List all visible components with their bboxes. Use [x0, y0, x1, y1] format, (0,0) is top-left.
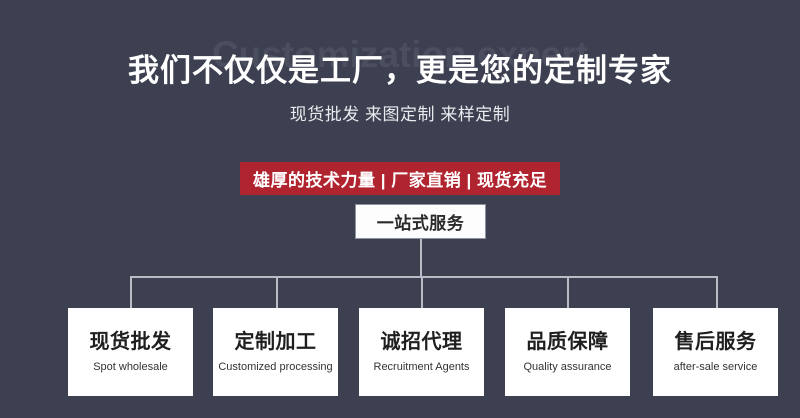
tree-root-label: 一站式服务	[377, 209, 465, 234]
page-title: 我们不仅仅是工厂，更是您的定制专家	[0, 52, 800, 89]
connector-branch-3	[421, 277, 423, 309]
tree-leaf-node: 定制加工 Customized processing	[213, 308, 338, 396]
highlight-banner-text: 雄厚的技术力量 | 厂家直销 | 现货充足	[253, 166, 547, 191]
connector-branch-5	[716, 277, 718, 309]
tree-leaf-label-cn: 诚招代理	[381, 330, 463, 354]
promo-banner: Customization expert 我们不仅仅是工厂，更是您的定制专家 现…	[0, 0, 800, 418]
tree-leaf-label-en: after-sale service	[674, 361, 758, 374]
tree-root-node: 一站式服务	[355, 204, 486, 239]
connector-trunk-vertical	[420, 239, 422, 277]
connector-branch-2	[276, 277, 278, 309]
tree-leaf-label-cn: 售后服务	[675, 330, 757, 354]
connector-branch-4	[567, 277, 569, 309]
tree-leaf-label-cn: 品质保障	[527, 330, 609, 354]
tree-leaf-node: 现货批发 Spot wholesale	[68, 308, 193, 396]
tree-leaf-label-en: Recruitment Agents	[374, 361, 470, 374]
page-subtitle: 现货批发 来图定制 来样定制	[0, 105, 800, 125]
tree-leaf-node: 诚招代理 Recruitment Agents	[359, 308, 484, 396]
tree-leaf-node: 品质保障 Quality assurance	[505, 308, 630, 396]
tree-leaf-label-en: Quality assurance	[523, 361, 611, 374]
tree-leaf-label-cn: 现货批发	[90, 330, 172, 354]
tree-leaf-node: 售后服务 after-sale service	[653, 308, 778, 396]
connector-branch-1	[130, 277, 132, 309]
highlight-banner: 雄厚的技术力量 | 厂家直销 | 现货充足	[240, 162, 560, 195]
connector-bus-horizontal	[130, 276, 718, 278]
tree-leaf-label-cn: 定制加工	[235, 330, 317, 354]
tree-leaf-label-en: Spot wholesale	[93, 361, 168, 374]
tree-leaf-label-en: Customized processing	[218, 361, 332, 374]
